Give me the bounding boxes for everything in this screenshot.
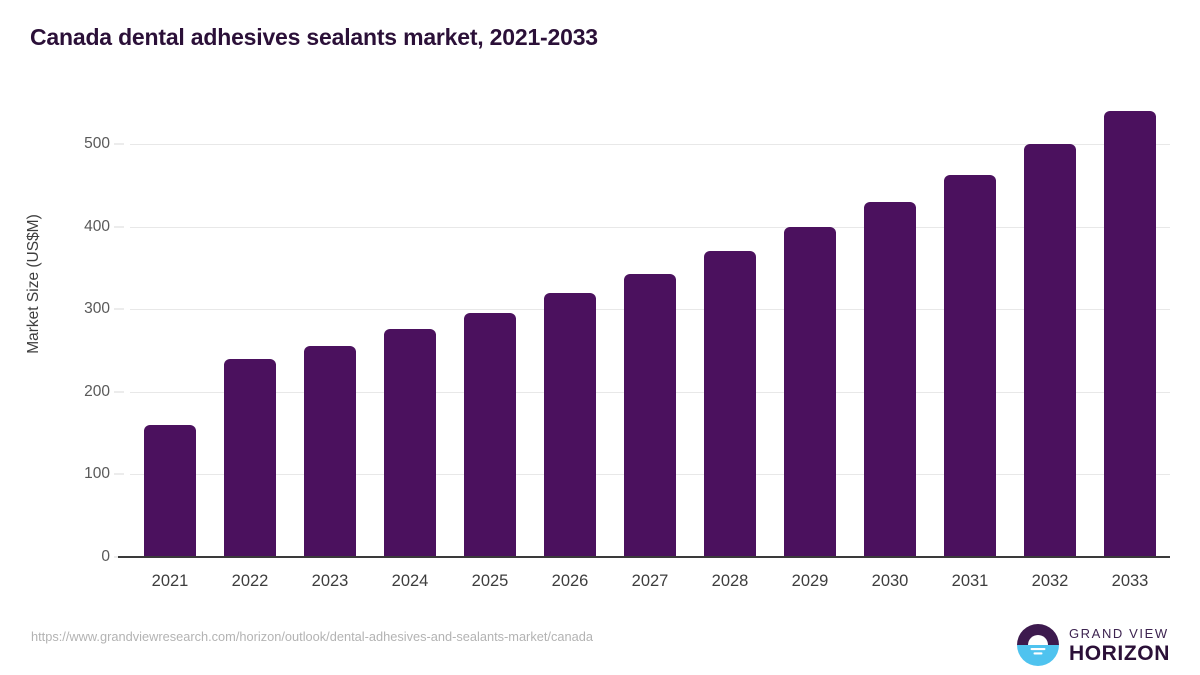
bar-2028[interactable]: [704, 251, 756, 557]
bar-2033[interactable]: [1104, 111, 1156, 557]
y-tick-mark: [114, 309, 124, 310]
bar-2027[interactable]: [624, 274, 676, 557]
x-tick-label-2029: 2029: [770, 572, 850, 591]
x-tick-label-2023: 2023: [290, 572, 370, 591]
bar-2030[interactable]: [864, 202, 916, 557]
y-tick-mark: [114, 144, 124, 145]
y-tick-label: 0: [50, 548, 110, 566]
x-tick-label-2032: 2032: [1010, 572, 1090, 591]
y-tick-mark: [114, 474, 124, 475]
gridline: [130, 227, 1170, 228]
x-tick-label-2027: 2027: [610, 572, 690, 591]
y-tick-label: 100: [50, 465, 110, 483]
y-tick-label: 400: [50, 218, 110, 236]
bar-2023[interactable]: [304, 346, 356, 557]
bar-2024[interactable]: [384, 329, 436, 557]
y-tick-label: 300: [50, 300, 110, 318]
y-tick-label: 500: [50, 135, 110, 153]
logo-wordmark: GRAND VIEW HORIZON: [1069, 627, 1170, 664]
y-axis-ticks: 0100200300400500: [0, 0, 110, 675]
y-axis-label: Market Size (US$M): [25, 74, 43, 494]
x-tick-label-2030: 2030: [850, 572, 930, 591]
gridline: [130, 144, 1170, 145]
logo-line-2: HORIZON: [1069, 643, 1170, 664]
bar-2029[interactable]: [784, 227, 836, 557]
x-tick-label-2022: 2022: [210, 572, 290, 591]
x-tick-label-2033: 2033: [1090, 572, 1170, 591]
x-tick-label-2021: 2021: [130, 572, 210, 591]
bar-2031[interactable]: [944, 175, 996, 557]
horizon-sun-icon: [1016, 623, 1060, 667]
page-title: Canada dental adhesives sealants market,…: [30, 24, 598, 51]
x-axis-line: [118, 556, 1170, 558]
y-tick-mark: [114, 226, 124, 227]
bar-2032[interactable]: [1024, 144, 1076, 557]
source-url[interactable]: https://www.grandviewresearch.com/horizo…: [31, 629, 593, 644]
y-tick-label: 200: [50, 383, 110, 401]
y-tick-mark: [114, 391, 124, 392]
chart-card: Canada dental adhesives sealants market,…: [0, 0, 1200, 675]
bar-2022[interactable]: [224, 359, 276, 557]
plot-area: [130, 100, 1170, 557]
bar-2021[interactable]: [144, 425, 196, 557]
bar-2026[interactable]: [544, 293, 596, 557]
x-tick-label-2026: 2026: [530, 572, 610, 591]
brand-logo: GRAND VIEW HORIZON: [1016, 622, 1170, 668]
x-tick-label-2031: 2031: [930, 572, 1010, 591]
bar-2025[interactable]: [464, 313, 516, 557]
x-tick-label-2025: 2025: [450, 572, 530, 591]
x-tick-label-2028: 2028: [690, 572, 770, 591]
x-tick-label-2024: 2024: [370, 572, 450, 591]
logo-line-1: GRAND VIEW: [1069, 627, 1170, 640]
